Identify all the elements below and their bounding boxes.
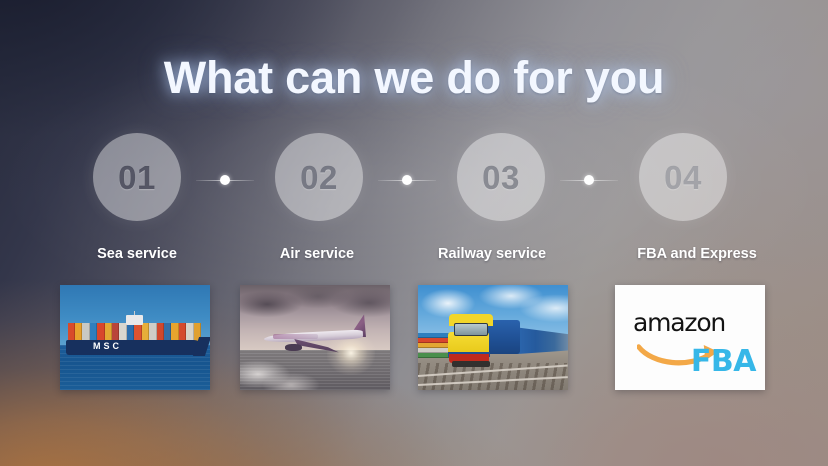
connector-dot-icon (402, 175, 412, 185)
step-circle-01[interactable]: 01 (93, 133, 181, 221)
image-card-air-service[interactable] (240, 285, 390, 390)
airplane-engine (285, 344, 302, 351)
connector-3-4 (560, 175, 618, 186)
airplane-light-clouds (240, 348, 390, 390)
step-circle-04[interactable]: 04 (639, 133, 727, 221)
service-label-railway: Railway service (402, 246, 582, 262)
service-label-air: Air service (227, 246, 407, 262)
connector-dot-icon (220, 175, 230, 185)
airplane-livery-stripe (273, 334, 318, 338)
airplane-photo (240, 285, 390, 390)
connector-2-3 (378, 175, 436, 186)
page-title: What can we do for you (0, 52, 828, 104)
locomotive-wheels (452, 361, 490, 367)
step-number-01: 01 (118, 161, 156, 194)
locomotive-windshield (454, 323, 488, 337)
step-circle-03[interactable]: 03 (457, 133, 545, 221)
step-number-04: 04 (664, 161, 702, 194)
image-card-railway-service[interactable] (418, 285, 568, 390)
ship-bridge (126, 315, 143, 324)
cargo-train-photo (418, 285, 568, 390)
step-number-03: 03 (482, 161, 520, 194)
amazon-fba-logo: amazon FBA (615, 285, 765, 390)
step-number-02: 02 (300, 161, 338, 194)
connector-dot-icon (584, 175, 594, 185)
airplane-dark-clouds (240, 287, 390, 323)
ship-hull (66, 340, 204, 356)
step-circle-02[interactable]: 02 (275, 133, 363, 221)
container-ship-photo: MSC (60, 285, 210, 390)
ship-container-stack (68, 323, 202, 341)
image-card-fba-express[interactable]: amazon FBA (615, 285, 765, 390)
slide-canvas: What can we do for you 01 02 03 04 Sea s… (0, 0, 828, 466)
service-label-fba: FBA and Express (607, 246, 787, 262)
image-card-sea-service[interactable]: MSC (60, 285, 210, 390)
ship-vessel-name: MSC (93, 341, 122, 351)
railway-locomotive (448, 314, 519, 367)
fba-wordmark: FBA (691, 347, 756, 377)
amazon-wordmark: amazon (633, 310, 725, 335)
connector-1-2 (196, 175, 254, 186)
service-label-sea: Sea service (47, 246, 227, 262)
